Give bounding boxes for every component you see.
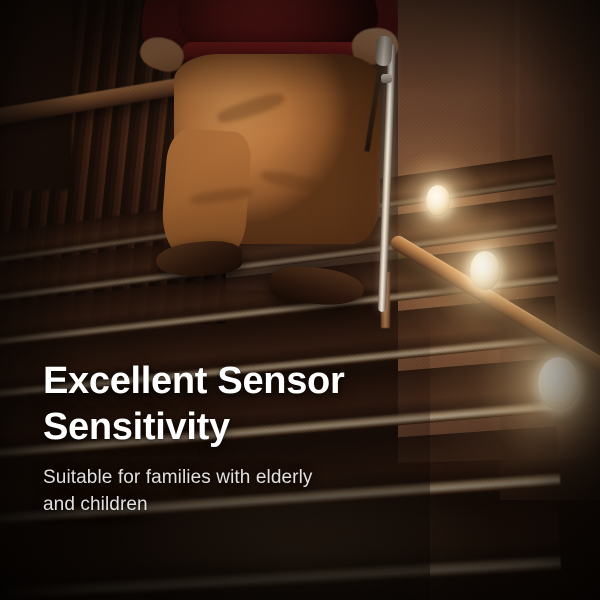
product-marketing-poster: Excellent Sensor Sensitivity Suitable fo… bbox=[0, 0, 600, 600]
sensor-light-upper bbox=[426, 185, 450, 216]
light-lens bbox=[470, 251, 500, 290]
light-lens bbox=[426, 185, 450, 216]
person-left-shoe bbox=[155, 238, 244, 279]
light-lens bbox=[538, 357, 579, 410]
cane-grip bbox=[375, 35, 393, 66]
cane-collar bbox=[381, 74, 392, 83]
person-right-shoe bbox=[268, 263, 365, 309]
elderly-person bbox=[120, 0, 420, 310]
sensor-light-lower bbox=[538, 357, 579, 410]
page-title: Excellent Sensor Sensitivity bbox=[43, 358, 463, 450]
page-subtitle: Suitable for families with elderly and c… bbox=[43, 464, 463, 518]
text-overlay: Excellent Sensor Sensitivity Suitable fo… bbox=[43, 358, 463, 518]
sensor-light-middle bbox=[470, 251, 500, 290]
person-right-leg bbox=[250, 122, 359, 280]
